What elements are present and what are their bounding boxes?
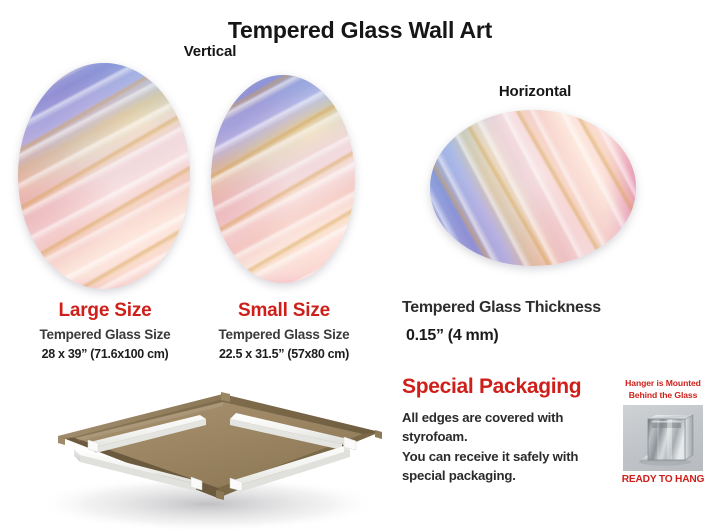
artwork-glass-sheen xyxy=(18,63,190,289)
thickness-value: 0.15” (4 mm) xyxy=(406,327,652,345)
hanger-callout: Hanger is Mounted Behind the Glass xyxy=(617,378,709,485)
hanger-photo xyxy=(623,405,703,471)
packaging-description: All edges are covered with styrofoam. Yo… xyxy=(402,408,614,486)
hanger-caption-line-1: Hanger is Mounted xyxy=(617,378,709,390)
page-title: Tempered Glass Wall Art xyxy=(0,17,720,44)
orientation-label-horizontal: Horizontal xyxy=(455,83,615,100)
ready-to-hang-label: READY TO HANG xyxy=(617,474,709,485)
size-dimensions-large: 28 x 39” (71.6x100 cm) xyxy=(12,347,198,361)
size-subtitle-small: Tempered Glass Size xyxy=(196,327,372,342)
thickness-spec: Tempered Glass Thickness 0.15” (4 mm) xyxy=(402,299,652,345)
orientation-label-vertical: Vertical xyxy=(130,43,290,60)
infographic-page: Tempered Glass Wall Art Vertical Horizon… xyxy=(0,0,720,532)
size-spec-small: Small Size Tempered Glass Size 22.5 x 31… xyxy=(196,300,372,361)
artwork-canvas xyxy=(18,63,190,289)
size-dimensions-small: 22.5 x 31.5” (57x80 cm) xyxy=(196,347,372,361)
glass-art-oval-large-vertical xyxy=(18,63,190,289)
hanger-caption: Hanger is Mounted Behind the Glass xyxy=(617,378,709,401)
artwork-canvas xyxy=(430,110,636,266)
packaging-line-1: All edges are covered with xyxy=(402,408,614,427)
thickness-label: Tempered Glass Thickness xyxy=(402,299,652,317)
glass-art-oval-small-vertical xyxy=(211,75,355,283)
packaging-box-illustration xyxy=(18,386,388,532)
packaging-title: Special Packaging xyxy=(402,375,614,399)
hanger-caption-line-2: Behind the Glass xyxy=(617,390,709,402)
artwork-glass-sheen xyxy=(430,110,636,266)
packaging-line-2: styrofoam. xyxy=(402,427,614,446)
cardboard-box-with-styrofoam-icon xyxy=(18,386,388,532)
size-spec-large: Large Size Tempered Glass Size 28 x 39” … xyxy=(12,300,198,361)
artwork-canvas xyxy=(211,75,355,283)
aluminium-hanger-icon xyxy=(623,405,703,471)
artwork-glass-sheen xyxy=(211,75,355,283)
packaging-line-4: special packaging. xyxy=(402,466,614,485)
glass-art-oval-horizontal xyxy=(430,110,636,266)
size-subtitle-large: Tempered Glass Size xyxy=(12,327,198,342)
packaging-section: Special Packaging All edges are covered … xyxy=(402,375,614,486)
size-title-large: Large Size xyxy=(12,300,198,322)
packaging-line-3: You can receive it safely with xyxy=(402,447,614,466)
size-title-small: Small Size xyxy=(196,300,372,322)
